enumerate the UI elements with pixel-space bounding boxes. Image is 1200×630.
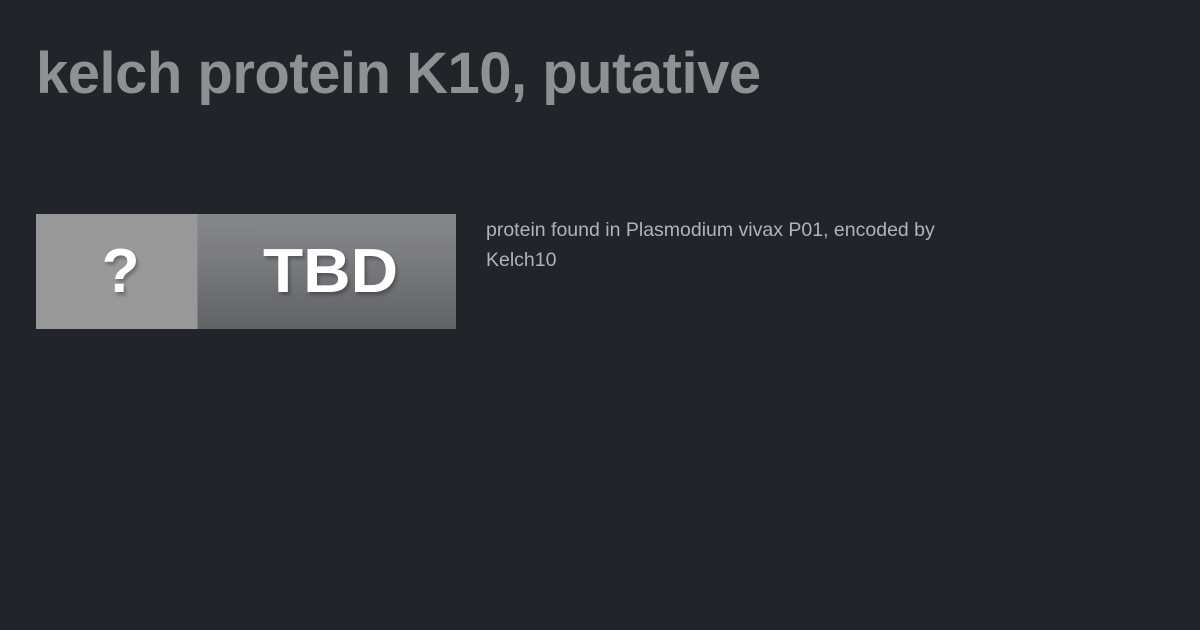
card-body: ? TBD protein found in Plasmodium vivax …	[36, 214, 1166, 334]
entity-preview-card: kelch protein K10, putative ? TBD protei…	[0, 0, 1200, 630]
question-mark-icon: ?	[36, 214, 205, 329]
placeholder-thumbnail: ? TBD	[36, 214, 456, 329]
page-title: kelch protein K10, putative	[36, 44, 776, 104]
tbd-label: TBD	[197, 214, 456, 329]
entity-description: protein found in Plasmodium vivax P01, e…	[486, 215, 1006, 275]
